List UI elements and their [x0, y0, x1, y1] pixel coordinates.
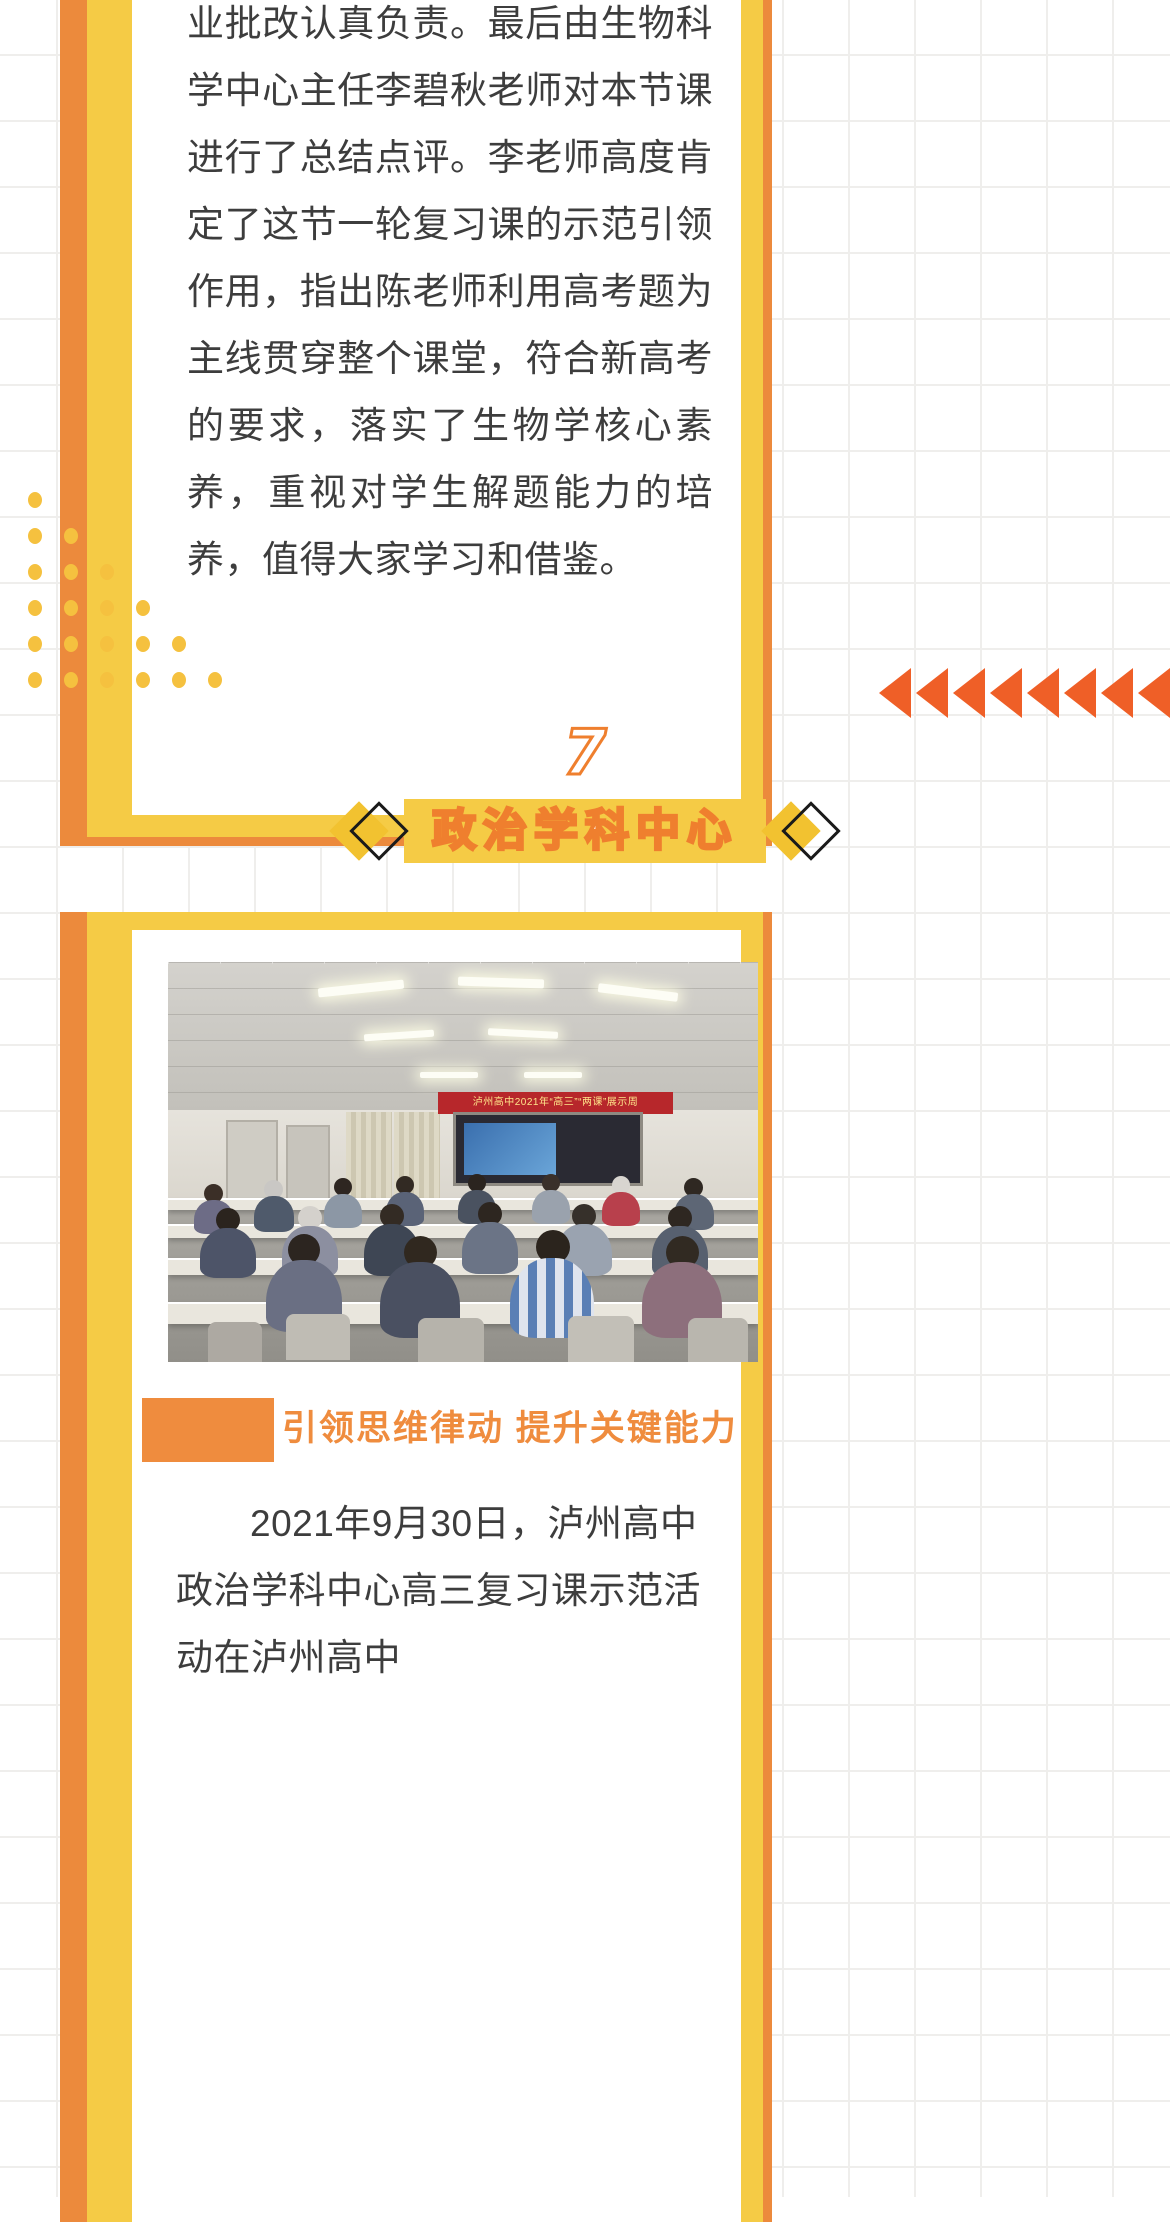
dot — [100, 636, 114, 652]
classroom-demonstration-photo: 泸州高中2021年“高三”“两课”展示周 — [168, 962, 758, 1362]
dot-row — [28, 662, 244, 698]
text-card-inner-frame: 业批改认真负责。最后由生物科学中心主任李碧秋老师对本节课进行了总结点评。李老师高… — [87, 0, 763, 837]
dot — [136, 600, 150, 616]
section-heading: 7 政治学科中心 — [0, 722, 1170, 902]
chevron-left-icon — [953, 668, 985, 718]
section-number: 7 — [0, 722, 1170, 784]
photo-chair — [286, 1314, 350, 1360]
diamond-ornament-right — [766, 790, 836, 872]
photo-chair — [568, 1316, 634, 1362]
dot — [100, 672, 114, 688]
photo-chair — [418, 1318, 484, 1362]
chevron-left-icon — [879, 668, 911, 718]
photo-ceiling-light — [524, 1072, 582, 1078]
photo-caption: 引领思维律动 提升关键能力 — [282, 1400, 738, 1458]
section-title: 政治学科中心 — [432, 807, 738, 855]
photo-projection-image — [464, 1123, 556, 1175]
dot — [28, 492, 42, 508]
photo-red-banner: 泸州高中2021年“高三”“两课”展示周 — [438, 1092, 673, 1114]
chevron-left-icon — [990, 668, 1022, 718]
dot — [136, 636, 150, 652]
caption-accent-block — [142, 1398, 274, 1462]
photo-caption-row: 引领思维律动 提升关键能力 — [132, 1398, 741, 1466]
photo-person-body — [324, 1194, 362, 1228]
chevron-left-icon — [1027, 668, 1059, 718]
photo-card-surface: 泸州高中2021年“高三”“两课”展示周 — [132, 930, 741, 2222]
section-heading-bar: 政治学科中心 — [404, 799, 766, 863]
dot — [64, 564, 78, 580]
dot — [28, 636, 42, 652]
dot-row — [28, 554, 244, 590]
photo-ceiling-light — [420, 1072, 478, 1078]
chevron-left-icon — [916, 668, 948, 718]
dot — [28, 564, 42, 580]
dot-row — [28, 626, 244, 662]
photo-card-inner-frame: 泸州高中2021年“高三”“两课”展示周 — [87, 912, 763, 2222]
politics-summary-paragraph: 2021年9月30日，泸州高中政治学科中心高三复习课示范活动在泸州高中 — [176, 1490, 713, 1691]
dot-row — [28, 482, 244, 518]
dot — [64, 672, 78, 688]
politics-summary-text: 2021年9月30日，泸州高中政治学科中心高三复习课示范活动在泸州高中 — [176, 1503, 701, 1678]
dot — [100, 600, 114, 616]
dot — [64, 600, 78, 616]
dot — [136, 672, 150, 688]
dot — [208, 672, 222, 688]
photo-curtain — [346, 1112, 392, 1208]
section-heading-bar-wrapper: 政治学科中心 — [0, 790, 1170, 872]
dot — [64, 636, 78, 652]
chevron-left-icon — [1101, 668, 1133, 718]
photo-person-body — [200, 1228, 256, 1278]
yellow-dot-triangle-decoration — [28, 482, 244, 698]
text-card-outer-frame: 业批改认真负责。最后由生物科学中心主任李碧秋老师对本节课进行了总结点评。李老师高… — [60, 0, 772, 846]
dot — [28, 600, 42, 616]
photo-person-body — [532, 1190, 570, 1224]
photo-chair — [208, 1322, 262, 1362]
dot-row — [28, 518, 244, 554]
photo-person-body — [462, 1222, 518, 1274]
dot — [172, 672, 186, 688]
chevron-left-icon — [1064, 668, 1096, 718]
dot — [100, 564, 114, 580]
dot — [28, 672, 42, 688]
biology-summary-paragraph: 业批改认真负责。最后由生物科学中心主任李碧秋老师对本节课进行了总结点评。李老师高… — [187, 0, 713, 593]
photo-person-body — [602, 1192, 640, 1226]
chevron-left-icon — [1138, 668, 1170, 718]
orange-chevron-arrows-decoration — [874, 668, 1170, 718]
photo-card-outer-frame: 泸州高中2021年“高三”“两课”展示周 — [60, 912, 772, 2222]
photo-chair — [688, 1318, 748, 1362]
dot — [64, 528, 78, 544]
dot-row — [28, 590, 244, 626]
diamond-ornament-left — [334, 790, 404, 872]
dot — [28, 528, 42, 544]
photo-person-body — [254, 1196, 294, 1232]
dot — [172, 636, 186, 652]
